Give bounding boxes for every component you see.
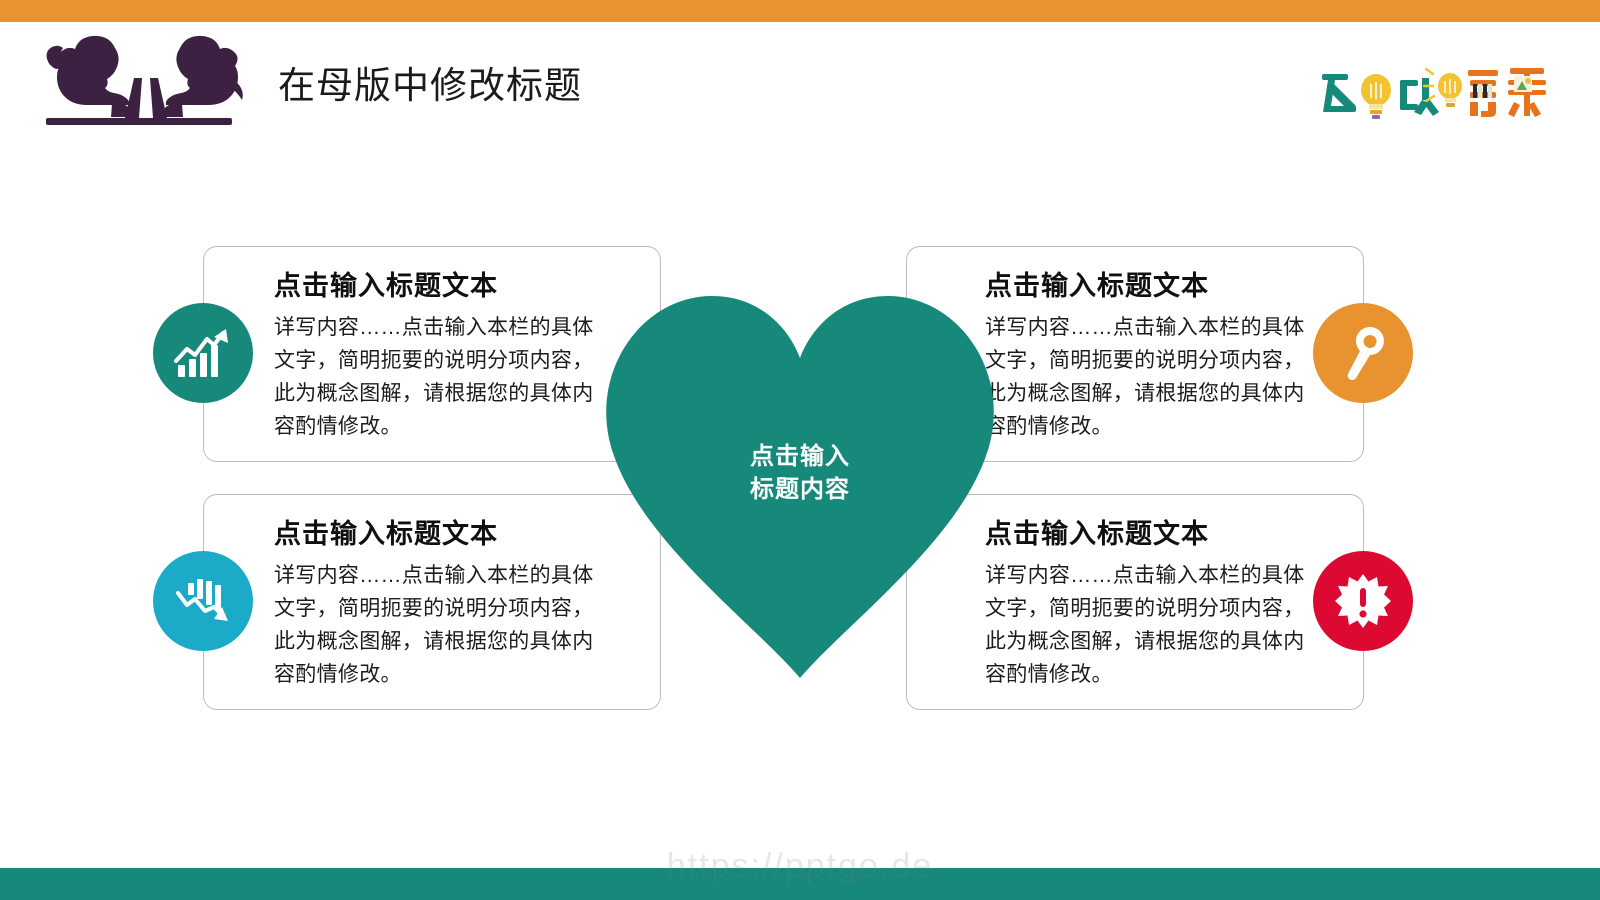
center-heart-shape[interactable]: 点击输入 标题内容 [600, 290, 1000, 680]
card-text-block: 点击输入标题文本 详写内容……点击输入本栏的具体文字，简明扼要的说明分项内容，此… [274, 269, 594, 443]
card-body: 详写内容……点击输入本栏的具体文字，简明扼要的说明分项内容，此为概念图解，请根据… [985, 559, 1305, 691]
footer-bar [0, 868, 1600, 900]
card-text-block: 点击输入标题文本 详写内容……点击输入本栏的具体文字，简明扼要的说明分项内容，此… [985, 517, 1305, 691]
page-title: 在母版中修改标题 [278, 62, 582, 110]
quiz-competition-logo [1318, 58, 1558, 132]
alert-burst-icon [1335, 573, 1391, 629]
card-title: 点击输入标题文本 [985, 269, 1305, 303]
icon-bar-chart-up[interactable] [153, 303, 253, 403]
card-body: 详写内容……点击输入本栏的具体文字，简明扼要的说明分项内容，此为概念图解，请根据… [985, 311, 1305, 443]
icon-key[interactable] [1313, 303, 1413, 403]
card-body: 详写内容……点击输入本栏的具体文字，简明扼要的说明分项内容，此为概念图解，请根据… [274, 311, 594, 443]
icon-alert-burst[interactable] [1313, 551, 1413, 651]
icon-bar-chart-down[interactable] [153, 551, 253, 651]
card-title: 点击输入标题文本 [985, 517, 1305, 551]
card-body: 详写内容……点击输入本栏的具体文字，简明扼要的说明分项内容，此为概念图解，请根据… [274, 559, 594, 691]
top-accent-bar [0, 0, 1600, 22]
people-laptop-logo [30, 26, 262, 144]
bar-chart-up-icon [174, 327, 232, 379]
card-title: 点击输入标题文本 [274, 517, 594, 551]
card-top-left[interactable]: 点击输入标题文本 详写内容……点击输入本栏的具体文字，简明扼要的说明分项内容，此… [203, 246, 661, 462]
key-icon [1340, 325, 1386, 381]
card-title: 点击输入标题文本 [274, 269, 594, 303]
slide-canvas: 在母版中修改标题 [0, 0, 1600, 900]
card-bottom-left[interactable]: 点击输入标题文本 详写内容……点击输入本栏的具体文字，简明扼要的说明分项内容，此… [203, 494, 661, 710]
slide-header: 在母版中修改标题 [0, 22, 1600, 142]
card-text-block: 点击输入标题文本 详写内容……点击输入本栏的具体文字，简明扼要的说明分项内容，此… [274, 517, 594, 691]
card-text-block: 点击输入标题文本 详写内容……点击输入本栏的具体文字，简明扼要的说明分项内容，此… [985, 269, 1305, 443]
bar-chart-down-icon [174, 575, 232, 627]
